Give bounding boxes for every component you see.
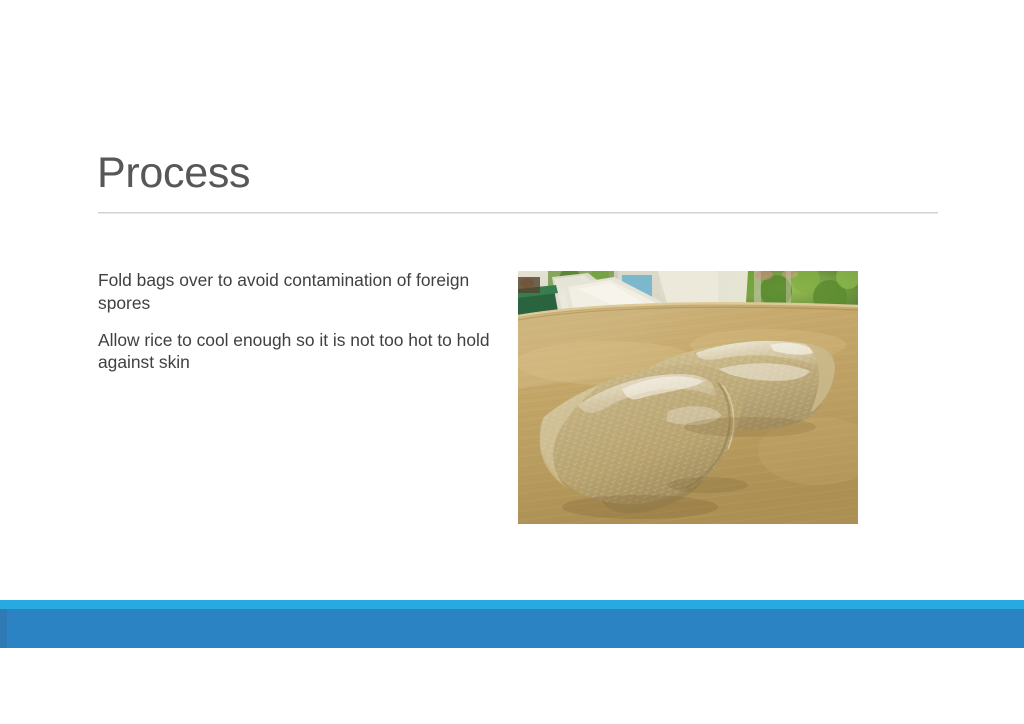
page-title: Process xyxy=(97,148,939,199)
body-paragraph-1: Fold bags over to avoid contamination of… xyxy=(98,269,510,315)
presentation-slide: Process Fold bags over to avoid contamin… xyxy=(0,0,1024,724)
accent-bar-main xyxy=(0,609,1024,648)
rice-bags-photo-image xyxy=(518,271,858,524)
slide-photo[interactable] xyxy=(518,271,858,524)
title-placeholder[interactable]: Process xyxy=(97,148,939,199)
body-text-placeholder[interactable]: Fold bags over to avoid contamination of… xyxy=(98,269,510,374)
accent-strip-light xyxy=(0,600,1024,609)
body-paragraph-2: Allow rice to cool enough so it is not t… xyxy=(98,329,518,375)
accent-bar-left-edge xyxy=(0,609,7,648)
title-divider-rule xyxy=(98,212,938,214)
